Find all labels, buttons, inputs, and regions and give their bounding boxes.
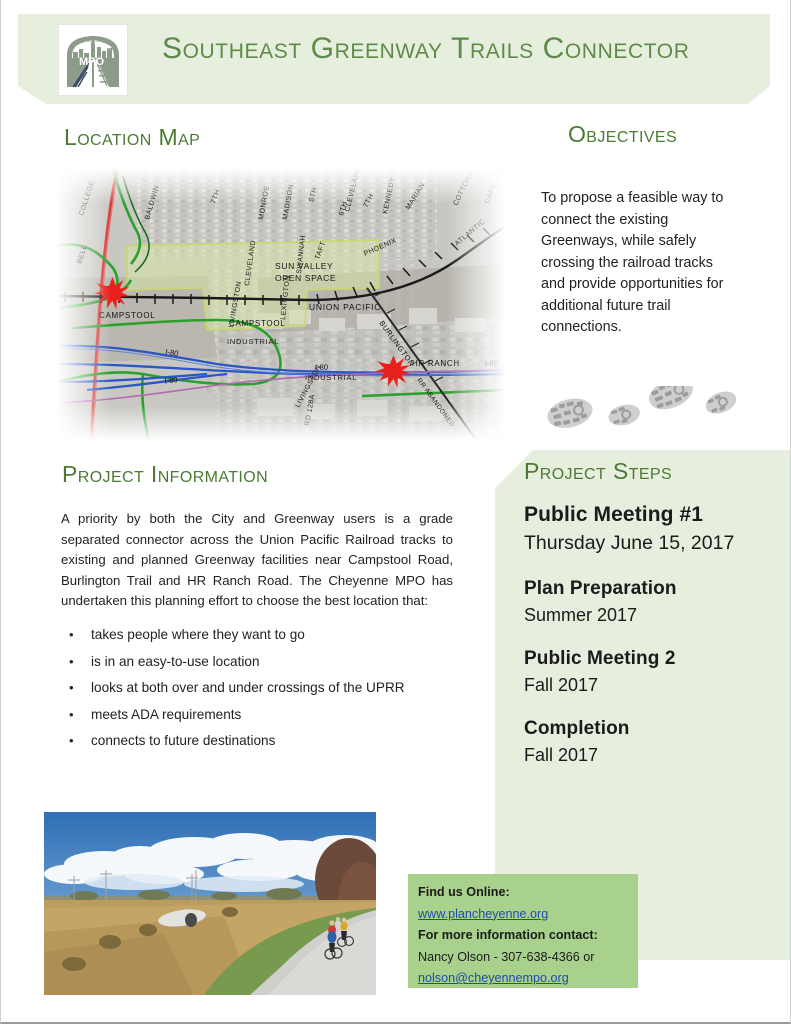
shoe-heel-icon-1 bbox=[606, 401, 642, 428]
footprint-icons bbox=[535, 386, 745, 442]
project-step: CompletionFall 2017 bbox=[524, 716, 774, 768]
project-step: Plan PreparationSummer 2017 bbox=[524, 576, 774, 628]
project-information-body: A priority by both the City and Greenway… bbox=[61, 509, 453, 612]
project-step-title: Completion bbox=[524, 716, 774, 742]
greenway-trail-photo bbox=[44, 812, 376, 995]
bullet-text: connects to future destinations bbox=[91, 733, 275, 748]
project-step-date: Fall 2017 bbox=[524, 742, 774, 768]
objectives-body: To propose a feasible way to connect the… bbox=[541, 188, 731, 339]
bullet-text: looks at both over and under crossings o… bbox=[91, 680, 405, 695]
project-step: Public Meeting #1Thursday June 15, 2017 bbox=[524, 500, 774, 558]
bullet-text: meets ADA requirements bbox=[91, 707, 241, 722]
heading-project-information: Project Information bbox=[62, 461, 268, 488]
shoe-heel-icon-2 bbox=[702, 387, 739, 418]
project-step: Public Meeting 2Fall 2017 bbox=[524, 646, 774, 698]
project-step-date: Fall 2017 bbox=[524, 672, 774, 698]
bullet-icon: • bbox=[69, 731, 74, 751]
email-link[interactable]: nolson@cheyennempo.org bbox=[418, 971, 569, 985]
list-item: •meets ADA requirements bbox=[61, 705, 461, 725]
project-step-date: Summer 2017 bbox=[524, 602, 774, 628]
list-item: •connects to future destinations bbox=[61, 731, 461, 751]
project-information-bullets: •takes people where they want to go•is i… bbox=[61, 625, 461, 758]
list-item: •takes people where they want to go bbox=[61, 625, 461, 645]
contact-content: Find us Online: www.plancheyenne.org For… bbox=[418, 882, 634, 990]
project-step-title: Plan Preparation bbox=[524, 576, 774, 602]
bullet-icon: • bbox=[69, 678, 74, 698]
contact-person: Nancy Olson - 307-638-4366 or bbox=[418, 947, 634, 969]
list-item: •is in an easy-to-use location bbox=[61, 652, 461, 672]
heading-project-steps: Project Steps bbox=[524, 458, 672, 485]
bullet-text: takes people where they want to go bbox=[91, 627, 305, 642]
heading-location-map: Location Map bbox=[64, 124, 200, 151]
project-step-title: Public Meeting 2 bbox=[524, 646, 774, 672]
location-map-image: SUN VALLEY OPEN SPACE bbox=[57, 168, 506, 441]
shoe-sole-icon-1 bbox=[544, 394, 595, 432]
heading-objectives: Objectives bbox=[568, 121, 677, 148]
list-item: •looks at both over and under crossings … bbox=[61, 678, 461, 698]
find-us-online-label: Find us Online: bbox=[418, 882, 634, 904]
shoe-sole-icon-2 bbox=[644, 386, 697, 415]
bullet-icon: • bbox=[69, 652, 74, 672]
logo-mpo-text: MPO bbox=[79, 56, 105, 68]
more-info-label: For more information contact: bbox=[418, 925, 634, 947]
project-steps-list: Public Meeting #1Thursday June 15, 2017P… bbox=[524, 500, 774, 786]
page-title: Southeast Greenway Trails Connector bbox=[162, 32, 762, 66]
bullet-icon: • bbox=[69, 705, 74, 725]
flyer-page: CHEYENNE MPO Southeast Greenway Trails C… bbox=[0, 0, 791, 1024]
bullet-icon: • bbox=[69, 625, 74, 645]
cheyenne-mpo-logo: CHEYENNE MPO bbox=[58, 24, 128, 96]
website-link[interactable]: www.plancheyenne.org bbox=[418, 907, 548, 921]
project-step-date: Thursday June 15, 2017 bbox=[524, 529, 774, 558]
project-step-title: Public Meeting #1 bbox=[524, 500, 774, 529]
bullet-text: is in an easy-to-use location bbox=[91, 654, 260, 669]
